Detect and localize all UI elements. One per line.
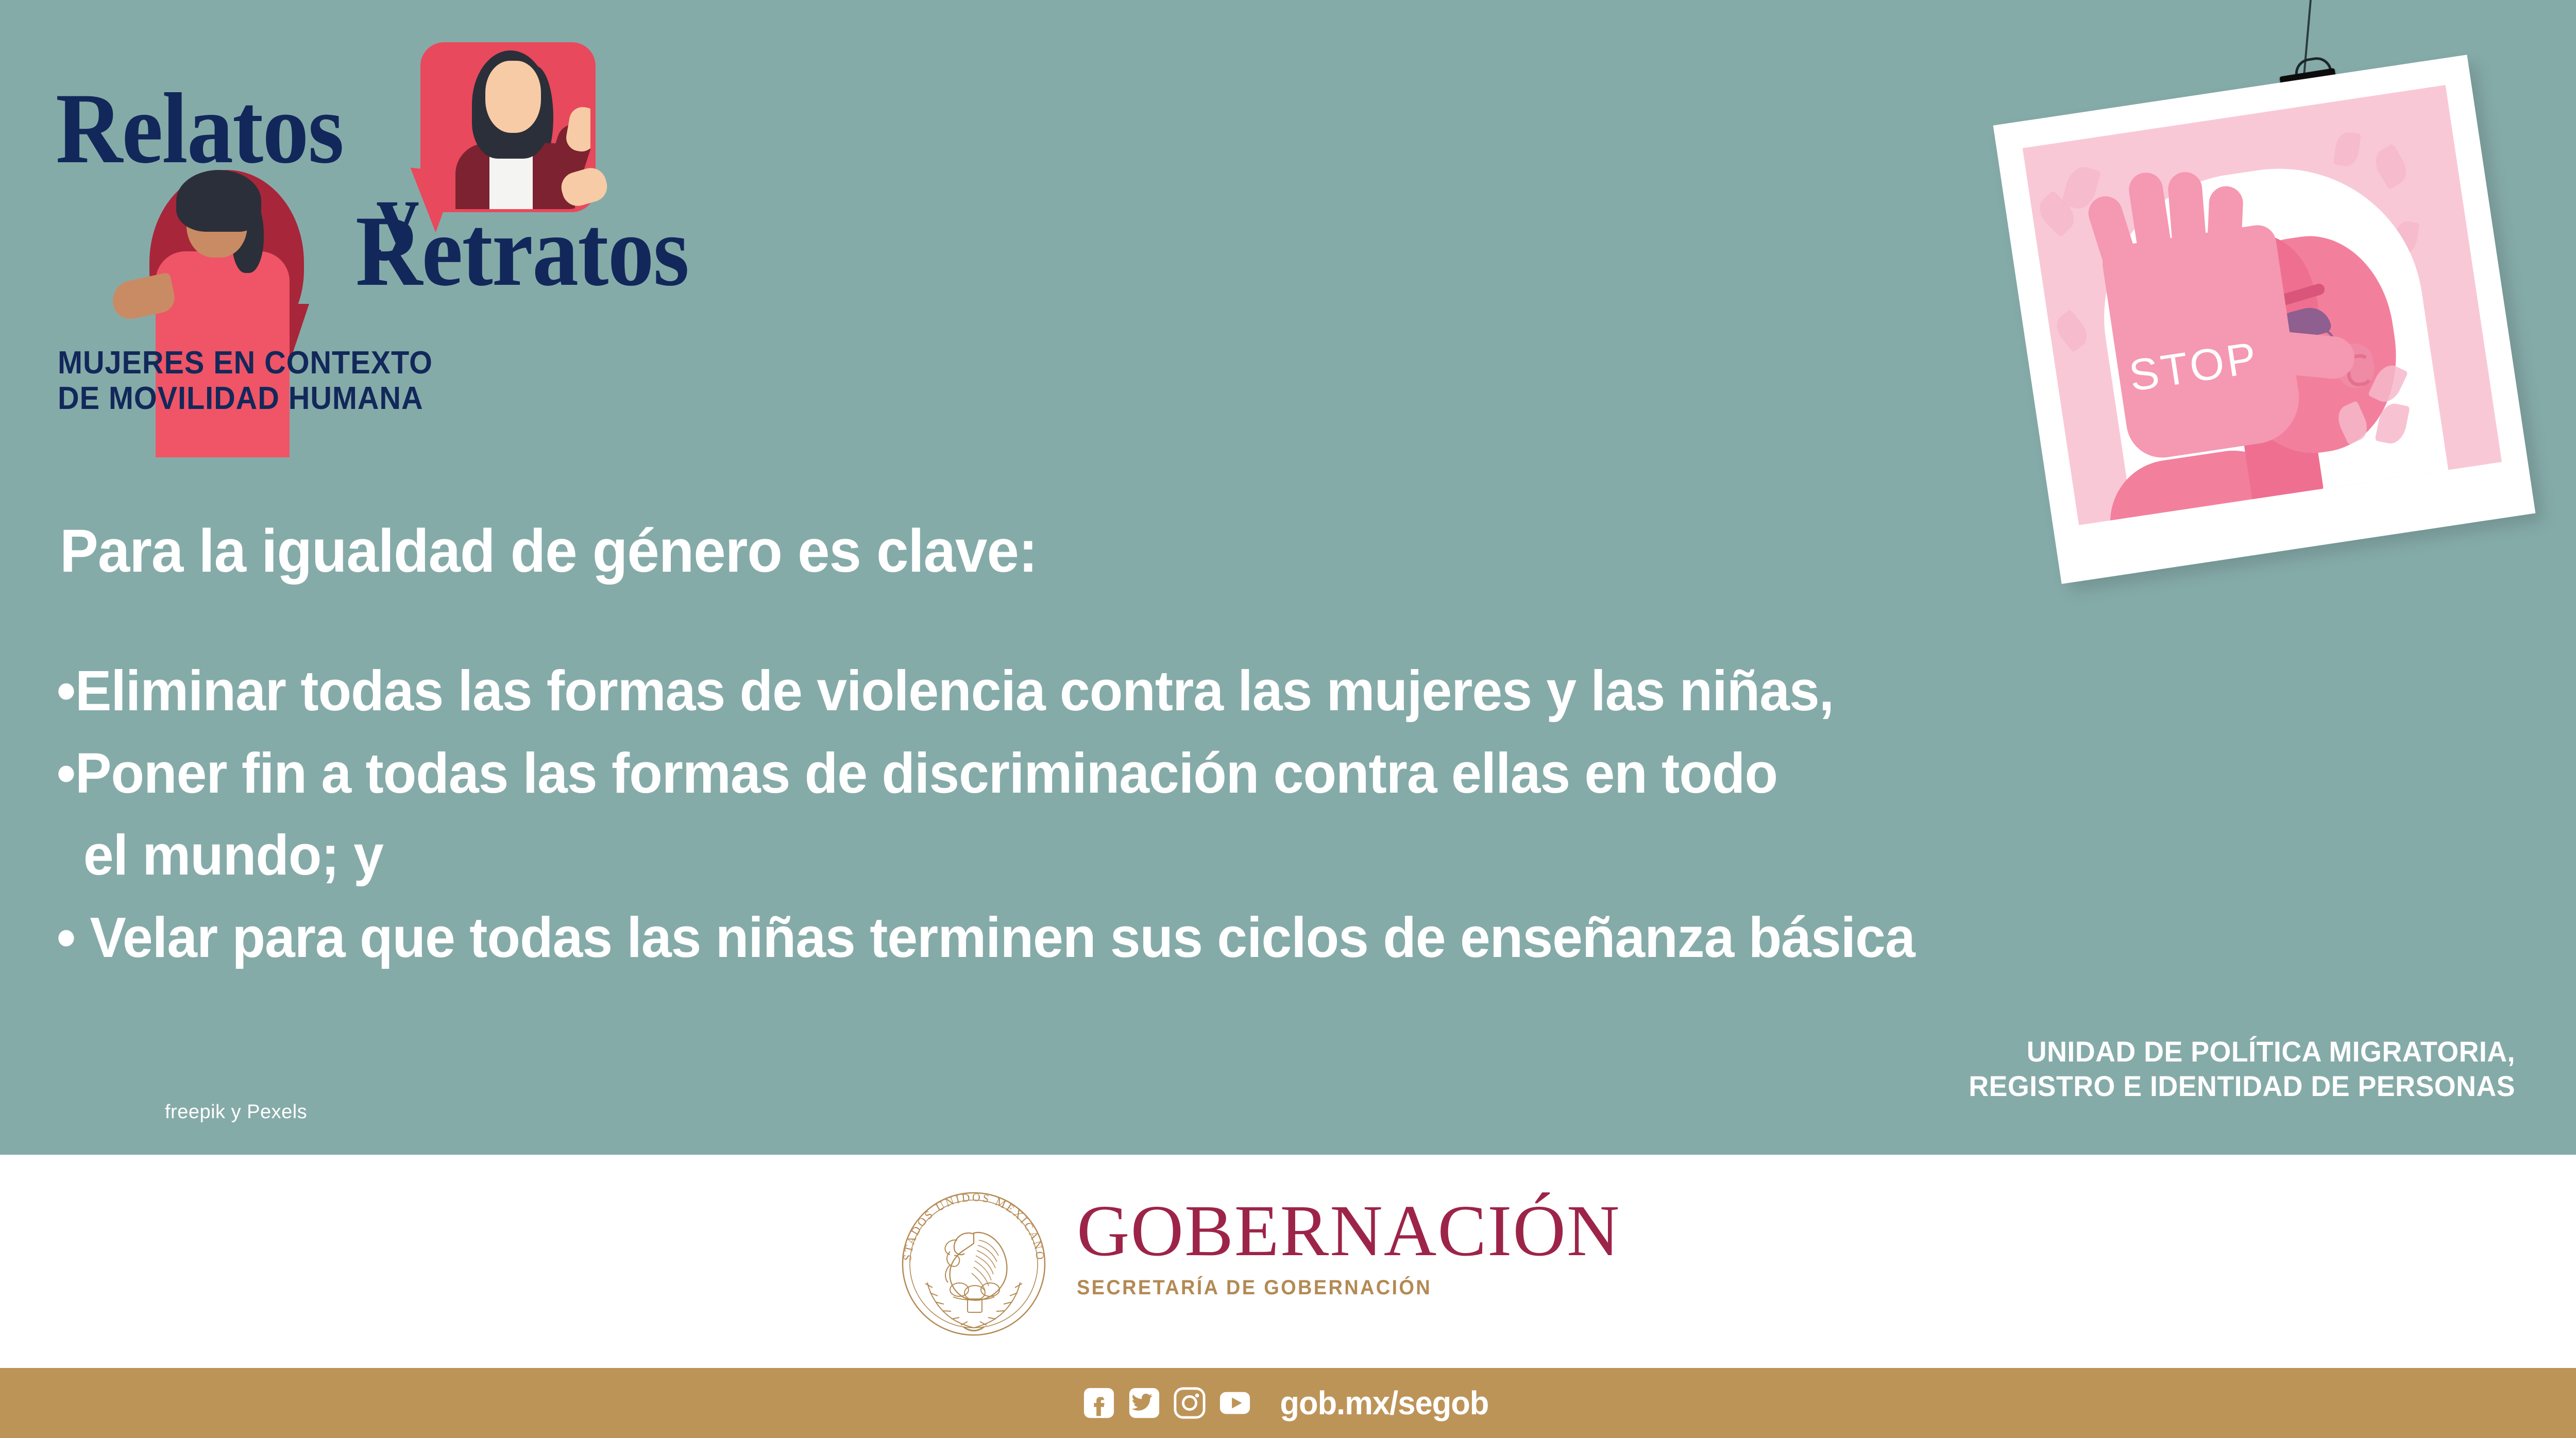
unit-credit-line2: REGISTRO E IDENTIDAD DE PERSONAS xyxy=(1969,1069,2515,1103)
photo-card: STOP xyxy=(1993,55,2536,584)
gobernacion-text: GOBERNACIÓN SECRETARÍA DE GOBERNACIÓN xyxy=(1077,1194,1620,1299)
unit-credit-line1: UNIDAD DE POLÍTICA MIGRATORIA, xyxy=(1969,1034,2515,1069)
list-item: •Eliminar todas las formas de violencia … xyxy=(57,650,2431,732)
brand-word-relatos: Relatos xyxy=(56,78,343,179)
list-item-continuation: el mundo; y xyxy=(57,814,2431,897)
brand-subtitle-line2: DE MOVILIDAD HUMANA xyxy=(58,381,423,416)
brand-word-retratos: Retratos xyxy=(355,201,688,302)
bullet-marker: • xyxy=(57,742,75,805)
bullet-text: Poner fin a todas las formas de discrimi… xyxy=(75,742,1777,805)
footer-gold-bar: gob.mx/segob xyxy=(0,1368,2576,1438)
website-url[interactable]: gob.mx/segob xyxy=(1280,1384,1489,1422)
leaf-icon xyxy=(2370,143,2412,190)
brand-subtitle: MUJERES EN CONTEXTODE MOVILIDAD HUMANA xyxy=(58,345,433,417)
bullet-marker: • xyxy=(57,659,75,723)
gobernacion-logo: ESTADOS UNIDOS MEXICANOS xyxy=(896,1178,1700,1348)
leaf-icon xyxy=(2051,309,2093,353)
bullet-marker: • xyxy=(57,906,75,969)
brand-subtitle-line1: MUJERES EN CONTEXTO xyxy=(58,345,433,381)
instagram-icon[interactable] xyxy=(1174,1387,1206,1419)
hanging-photo: STOP xyxy=(1994,0,2555,603)
brand-logo: Relatos y Retratos MUJERES EN CONTEXTODE… xyxy=(46,15,737,438)
facebook-icon[interactable] xyxy=(1083,1387,1115,1419)
twitter-icon[interactable] xyxy=(1128,1387,1160,1419)
bullet-text: Velar para que todas las niñas terminen … xyxy=(90,906,1914,969)
bullet-continuation-text: el mundo; y xyxy=(83,824,383,887)
poster-canvas: Relatos y Retratos MUJERES EN CONTEXTODE… xyxy=(0,0,2576,1438)
youtube-icon[interactable] xyxy=(1219,1387,1251,1419)
gobernacion-title: GOBERNACIÓN xyxy=(1077,1194,1620,1267)
gobernacion-subtitle: SECRETARÍA DE GOBERNACIÓN xyxy=(1077,1276,1594,1299)
page-headline: Para la igualdad de género es clave: xyxy=(60,516,1037,586)
unit-credit: UNIDAD DE POLÍTICA MIGRATORIA, REGISTRO … xyxy=(1969,1034,2515,1103)
leaf-icon xyxy=(2333,131,2361,167)
mexican-eagle-seal-icon: ESTADOS UNIDOS MEXICANOS xyxy=(896,1187,1051,1341)
photo-image: STOP xyxy=(2023,85,2502,525)
list-item: • Velar para que todas las niñas termine… xyxy=(57,897,2431,979)
head-shape xyxy=(485,61,541,133)
list-item: •Poner fin a todas las formas de discrim… xyxy=(57,732,2431,815)
bullet-text: Eliminar todas las formas de violencia c… xyxy=(75,659,1834,723)
image-credit: freepik y Pexels xyxy=(165,1101,307,1123)
bullet-list: •Eliminar todas las formas de violencia … xyxy=(57,650,2431,979)
svg-text:ESTADOS UNIDOS MEXICANOS: ESTADOS UNIDOS MEXICANOS xyxy=(896,1187,1047,1262)
